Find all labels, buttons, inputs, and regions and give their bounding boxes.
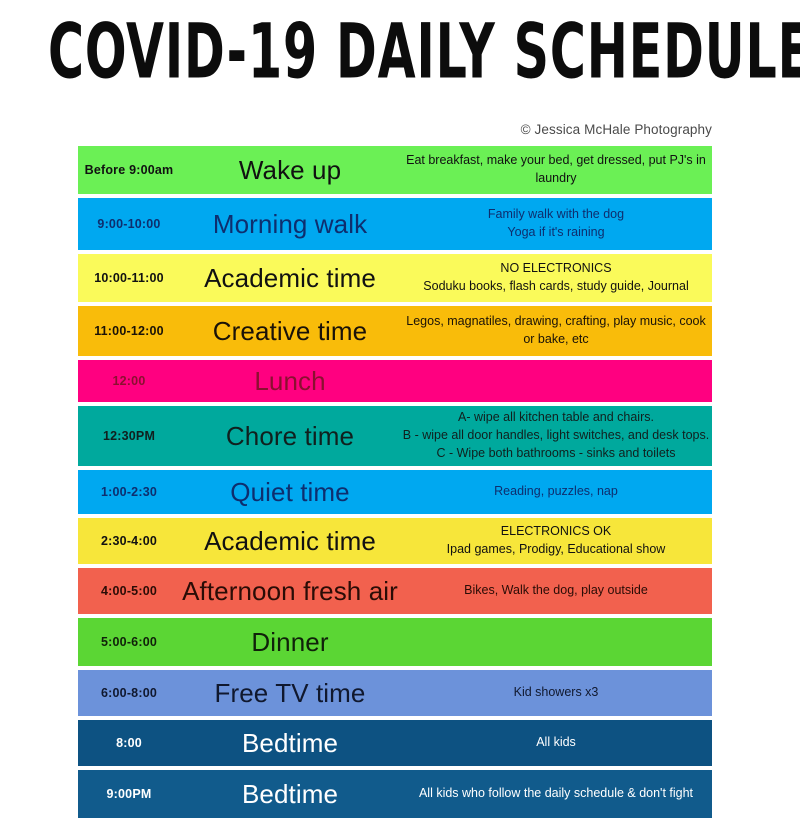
- schedule-row: 2:30-4:00Academic timeELECTRONICS OKIpad…: [78, 518, 712, 564]
- schedule-row-activity: Academic time: [180, 518, 400, 564]
- schedule-row-details: ELECTRONICS OKIpad games, Prodigy, Educa…: [400, 518, 712, 564]
- schedule-row: 12:30PMChore timeA- wipe all kitchen tab…: [78, 406, 712, 466]
- schedule-row-details: Reading, puzzles, nap: [400, 470, 712, 514]
- schedule-table-body: Before 9:00amWake upEat breakfast, make …: [78, 146, 712, 818]
- covid-daily-schedule-poster: COVID-19 DAILY SCHEDULE © Jessica McHale…: [0, 0, 800, 800]
- schedule-row-details: NO ELECTRONICSSoduku books, flash cards,…: [400, 254, 712, 302]
- schedule-row-details: Eat breakfast, make your bed, get dresse…: [400, 146, 712, 194]
- schedule-row-time: 5:00-6:00: [78, 618, 180, 666]
- schedule-row: 10:00-11:00Academic timeNO ELECTRONICSSo…: [78, 254, 712, 302]
- schedule-row-activity: Lunch: [180, 360, 400, 402]
- schedule-row: Before 9:00amWake upEat breakfast, make …: [78, 146, 712, 194]
- schedule-row-activity: Academic time: [180, 254, 400, 302]
- schedule-row-activity: Chore time: [180, 406, 400, 466]
- schedule-row-activity: Afternoon fresh air: [180, 568, 400, 614]
- schedule-row-details: Kid showers x3: [400, 670, 712, 716]
- schedule-row-activity: Bedtime: [180, 720, 400, 766]
- schedule-row: 12:00Lunch: [78, 360, 712, 402]
- schedule-row-time: 11:00-12:00: [78, 306, 180, 356]
- schedule-row: 9:00PMBedtimeAll kids who follow the dai…: [78, 770, 712, 818]
- schedule-row-details: Family walk with the dogYoga if it's rai…: [400, 198, 712, 250]
- schedule-row-details: A- wipe all kitchen table and chairs.B -…: [400, 406, 712, 466]
- schedule-row: 4:00-5:00Afternoon fresh airBikes, Walk …: [78, 568, 712, 614]
- schedule-row-time: 12:00: [78, 360, 180, 402]
- page-title: COVID-19 DAILY SCHEDULE: [48, 14, 752, 90]
- schedule-row: 9:00-10:00Morning walkFamily walk with t…: [78, 198, 712, 250]
- schedule-row: 11:00-12:00Creative timeLegos, magnatile…: [78, 306, 712, 356]
- schedule-row-details: [400, 618, 712, 666]
- schedule-row-time: 9:00-10:00: [78, 198, 180, 250]
- schedule-row-time: Before 9:00am: [78, 146, 180, 194]
- schedule-row-details: Legos, magnatiles, drawing, crafting, pl…: [400, 306, 712, 356]
- schedule-row-details: Bikes, Walk the dog, play outside: [400, 568, 712, 614]
- schedule-row: 5:00-6:00Dinner: [78, 618, 712, 666]
- schedule-row-time: 8:00: [78, 720, 180, 766]
- schedule-row: 6:00-8:00Free TV timeKid showers x3: [78, 670, 712, 716]
- schedule-row-time: 12:30PM: [78, 406, 180, 466]
- schedule-row: 1:00-2:30Quiet timeReading, puzzles, nap: [78, 470, 712, 514]
- schedule-row-time: 9:00PM: [78, 770, 180, 818]
- schedule-row-details: [400, 360, 712, 402]
- schedule-row-details: All kids: [400, 720, 712, 766]
- schedule-table: Before 9:00amWake upEat breakfast, make …: [78, 146, 712, 818]
- schedule-row-activity: Quiet time: [180, 470, 400, 514]
- schedule-row-time: 4:00-5:00: [78, 568, 180, 614]
- schedule-row-activity: Morning walk: [180, 198, 400, 250]
- schedule-row-time: 1:00-2:30: [78, 470, 180, 514]
- schedule-row-time: 2:30-4:00: [78, 518, 180, 564]
- schedule-row-time: 10:00-11:00: [78, 254, 180, 302]
- schedule-row-details: All kids who follow the daily schedule &…: [400, 770, 712, 818]
- schedule-row-activity: Bedtime: [180, 770, 400, 818]
- photo-credit: © Jessica McHale Photography: [521, 122, 712, 137]
- schedule-row-time: 6:00-8:00: [78, 670, 180, 716]
- schedule-row-activity: Dinner: [180, 618, 400, 666]
- schedule-row-activity: Creative time: [180, 306, 400, 356]
- schedule-row-activity: Wake up: [180, 146, 400, 194]
- schedule-row: 8:00BedtimeAll kids: [78, 720, 712, 766]
- schedule-row-activity: Free TV time: [180, 670, 400, 716]
